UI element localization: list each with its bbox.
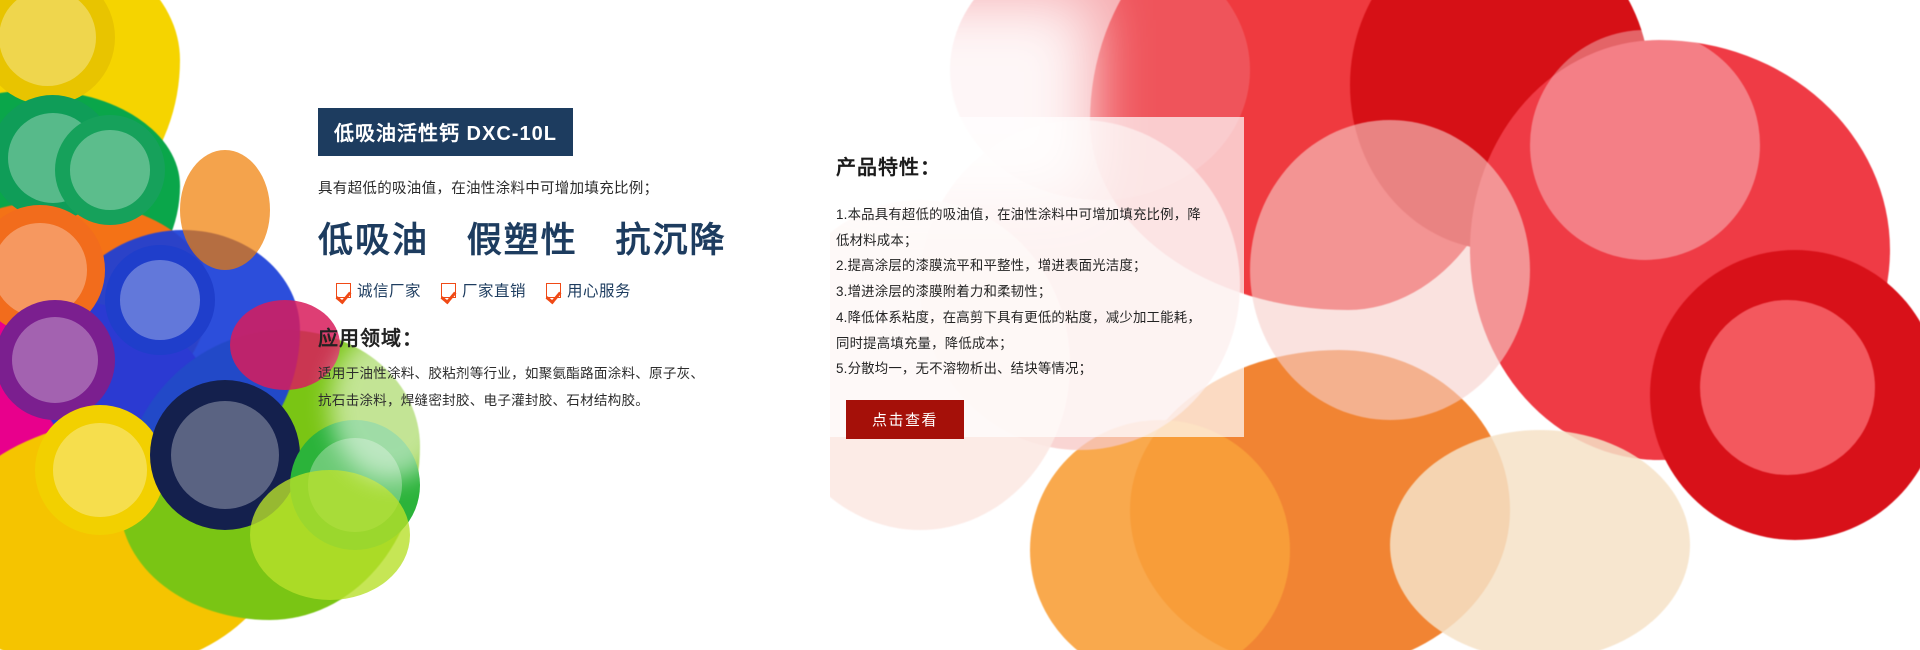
paint-ring bbox=[105, 245, 215, 355]
keyword-2: 假塑性 bbox=[467, 221, 578, 260]
paint-ring bbox=[35, 405, 165, 535]
promo-banner: 低吸油活性钙 DXC-10L 具有超低的吸油值，在油性涂料中可增加填充比例； 低… bbox=[0, 0, 1920, 650]
badge-item: 诚信厂家 bbox=[336, 279, 421, 301]
features-panel: 产品特性： 1.本品具有超低的吸油值，在油性涂料中可增加填充比例，降低材料成本；… bbox=[804, 117, 1244, 437]
feature-item: 3.增进涂层的漆膜附着力和柔韧性； bbox=[836, 279, 1214, 305]
feature-item: 2.提高涂层的漆膜流平和平整性，增进表面光洁度； bbox=[836, 253, 1214, 279]
paint-ring bbox=[0, 300, 115, 420]
keyword-3: 抗沉降 bbox=[616, 221, 727, 260]
paint-blob bbox=[180, 150, 270, 270]
application-heading: 应用领域： bbox=[318, 322, 748, 351]
badge-label: 诚信厂家 bbox=[357, 279, 421, 301]
feature-item: 5.分散均一，无不溶物析出、结块等情况； bbox=[836, 356, 1214, 382]
application-body: 适用于油性涂料、胶粘剂等行业，如聚氨酯路面涂料、原子灰、抗石击涂料，焊缝密封胶、… bbox=[318, 361, 718, 414]
badge-label: 用心服务 bbox=[567, 279, 631, 301]
features-panel-title: 产品特性： bbox=[836, 151, 1218, 180]
check-icon bbox=[336, 283, 351, 298]
keyword-row: 低吸油 假塑性 抗沉降 bbox=[318, 212, 748, 263]
badge-row: 诚信厂家 厂家直销 用心服务 bbox=[318, 279, 748, 301]
feature-item: 4.降低体系粘度，在高剪下具有更低的粘度，减少加工能耗，同时提高填充量，降低成本… bbox=[836, 305, 1214, 356]
product-subline: 具有超低的吸油值，在油性涂料中可增加填充比例； bbox=[318, 177, 748, 198]
features-list: 1.本品具有超低的吸油值，在油性涂料中可增加填充比例，降低材料成本； 2.提高涂… bbox=[836, 202, 1214, 382]
product-title-band: 低吸油活性钙 DXC-10L bbox=[318, 108, 573, 156]
badge-item: 用心服务 bbox=[546, 279, 631, 301]
badge-item: 厂家直销 bbox=[441, 279, 526, 301]
left-content-column: 低吸油活性钙 DXC-10L 具有超低的吸油值，在油性涂料中可增加填充比例； 低… bbox=[318, 108, 748, 414]
paint-blob bbox=[250, 470, 410, 600]
check-icon bbox=[441, 283, 456, 298]
check-icon bbox=[546, 283, 561, 298]
paint-ring bbox=[55, 115, 165, 225]
badge-label: 厂家直销 bbox=[462, 279, 526, 301]
view-details-button[interactable]: 点击查看 bbox=[846, 400, 964, 439]
keyword-1: 低吸油 bbox=[318, 221, 429, 260]
feature-item: 1.本品具有超低的吸油值，在油性涂料中可增加填充比例，降低材料成本； bbox=[836, 202, 1214, 253]
